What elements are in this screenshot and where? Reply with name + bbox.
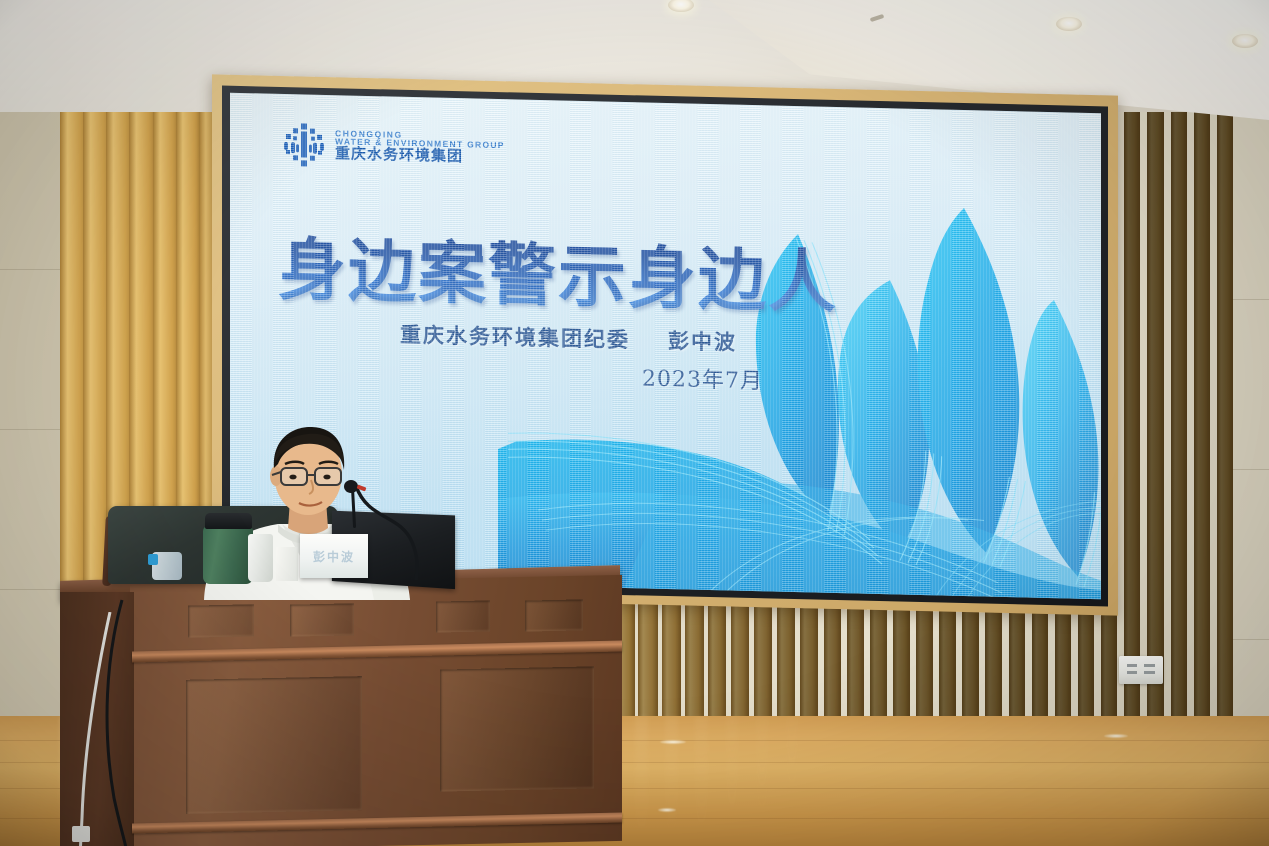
downlight-2: [1056, 17, 1082, 31]
podium-lower-panel-right: [440, 666, 594, 791]
green-thermos-flask: [203, 526, 253, 584]
slide-date: 2023年7月: [642, 360, 763, 395]
white-cup: [248, 534, 273, 582]
wall-slat: [1217, 13, 1233, 803]
wall-slat: [1171, 12, 1187, 802]
thermos-cap: [205, 513, 252, 529]
conference-hall-photo: CHONGQING WATER & ENVIRONMENT GROUP 重庆水务…: [0, 0, 1269, 846]
podium-upper-panel-3: [436, 600, 490, 632]
slide-title: 身边案警示身边人: [278, 214, 838, 326]
floor-reflection: [635, 716, 648, 846]
pen-holder: [276, 547, 298, 581]
podium-upper-panel-2: [290, 603, 354, 636]
podium-upper-panel-4: [525, 599, 583, 631]
water-bottle-cap: [148, 554, 158, 565]
wall-power-outlet[interactable]: [1119, 656, 1163, 684]
floor-reflection: [695, 716, 708, 846]
floor-reflection: [726, 716, 738, 846]
floor-reflection: [756, 716, 768, 846]
slide-logo: CHONGQING WATER & ENVIRONMENT GROUP 重庆水务…: [282, 122, 505, 171]
floor-reflection: [786, 716, 798, 846]
cable-plug: [72, 826, 90, 842]
floor-reflection: [665, 716, 678, 846]
microphone-gooseneck-arm: [352, 480, 442, 580]
wall-slat: [1194, 12, 1210, 802]
presenter-name: 彭中波: [668, 329, 737, 355]
downlight-3: [1232, 34, 1258, 48]
chongqing-water-group-logomark: [282, 122, 326, 167]
microphone-head: [344, 480, 358, 493]
presenter-org: 重庆水务环境集团纪委: [400, 323, 630, 352]
power-cable-white: [74, 612, 144, 846]
podium-lower-panel-left: [186, 676, 362, 814]
nameplate-text: 彭中波: [313, 548, 355, 565]
podium-upper-panel-1: [188, 604, 254, 637]
